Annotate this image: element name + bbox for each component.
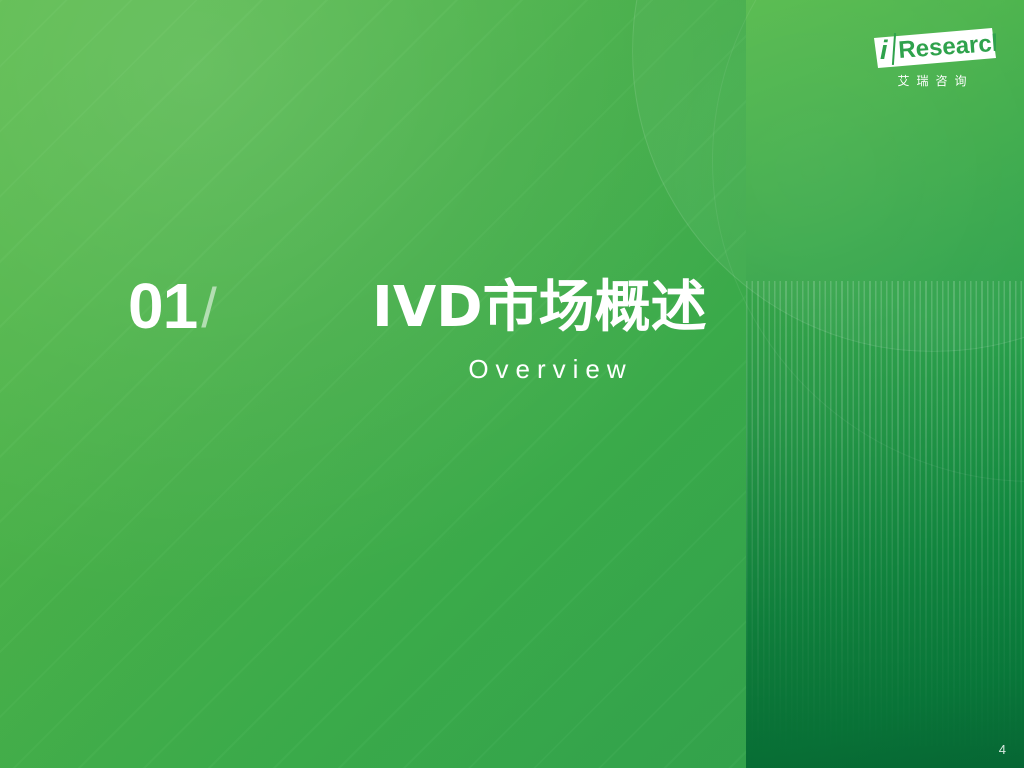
logo-chinese-name: 艾瑞咨询 xyxy=(868,73,996,89)
section-headline-block: 01 / IVD市场概述 Overview xyxy=(0,272,746,432)
section-title-english: Overview xyxy=(372,352,722,386)
logo-wordmark: i Research xyxy=(868,28,996,70)
page-number: 4 xyxy=(999,742,1006,758)
logo-banner-icon: i Research xyxy=(868,28,996,70)
section-number-group: 01 / xyxy=(128,274,217,346)
section-title-chinese: IVD市场概述 xyxy=(372,272,707,344)
section-number: 01 xyxy=(128,274,197,338)
slide-canvas: i Research 艾瑞咨询 01 / IVD市场概述 Overview 4 xyxy=(0,0,1024,768)
section-separator-slash: / xyxy=(201,274,217,342)
right-decorative-panel xyxy=(746,0,1024,768)
logo-i-letter: i xyxy=(880,35,888,65)
iresearch-logo: i Research 艾瑞咨询 xyxy=(868,28,996,98)
vertical-stripes-pattern xyxy=(746,281,1024,768)
panel-vignette xyxy=(746,0,1024,768)
